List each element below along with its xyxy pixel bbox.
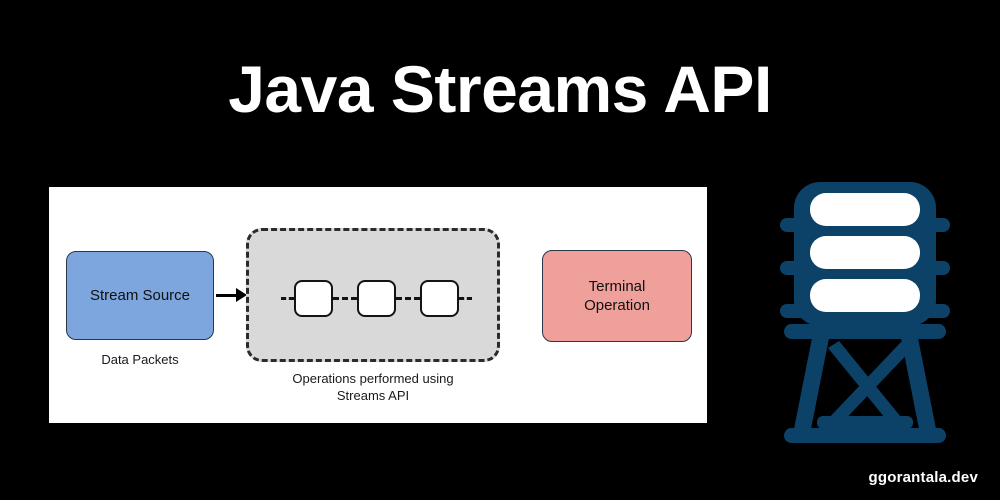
terminal-label-line2: Operation <box>584 297 650 314</box>
watermark-text: ggorantala.dev <box>869 469 979 486</box>
operation-box <box>357 280 396 317</box>
operations-container <box>246 228 500 362</box>
stream-source-label: Stream Source <box>90 287 190 305</box>
operation-link <box>281 297 294 300</box>
terminal-label-line1: Terminal <box>589 278 646 295</box>
operations-caption: Operations performed using Streams API <box>229 370 517 404</box>
page-title: Java Streams API <box>0 52 1000 126</box>
java-streams-banner: Java Streams API Stream Source Data Pack… <box>0 0 1000 500</box>
terminal-operation-label: Terminal Operation <box>584 277 650 315</box>
operation-link <box>396 297 420 300</box>
operation-box <box>420 280 459 317</box>
data-packets-caption: Data Packets <box>66 352 214 367</box>
stream-source-box: Stream Source <box>66 251 214 340</box>
terminal-operation-box: Terminal Operation <box>542 250 692 342</box>
arrow-shaft <box>216 294 237 297</box>
operations-caption-line2: Streams API <box>229 387 517 404</box>
operation-box <box>294 280 333 317</box>
operation-link <box>459 297 472 300</box>
operations-row <box>249 231 503 365</box>
water-tower-icon <box>776 166 954 444</box>
diagram-panel: Stream Source Data Packets Operations pe… <box>49 187 707 423</box>
operation-link <box>333 297 357 300</box>
operations-caption-line1: Operations performed using <box>229 370 517 387</box>
arrow-source-to-operations <box>216 289 247 301</box>
